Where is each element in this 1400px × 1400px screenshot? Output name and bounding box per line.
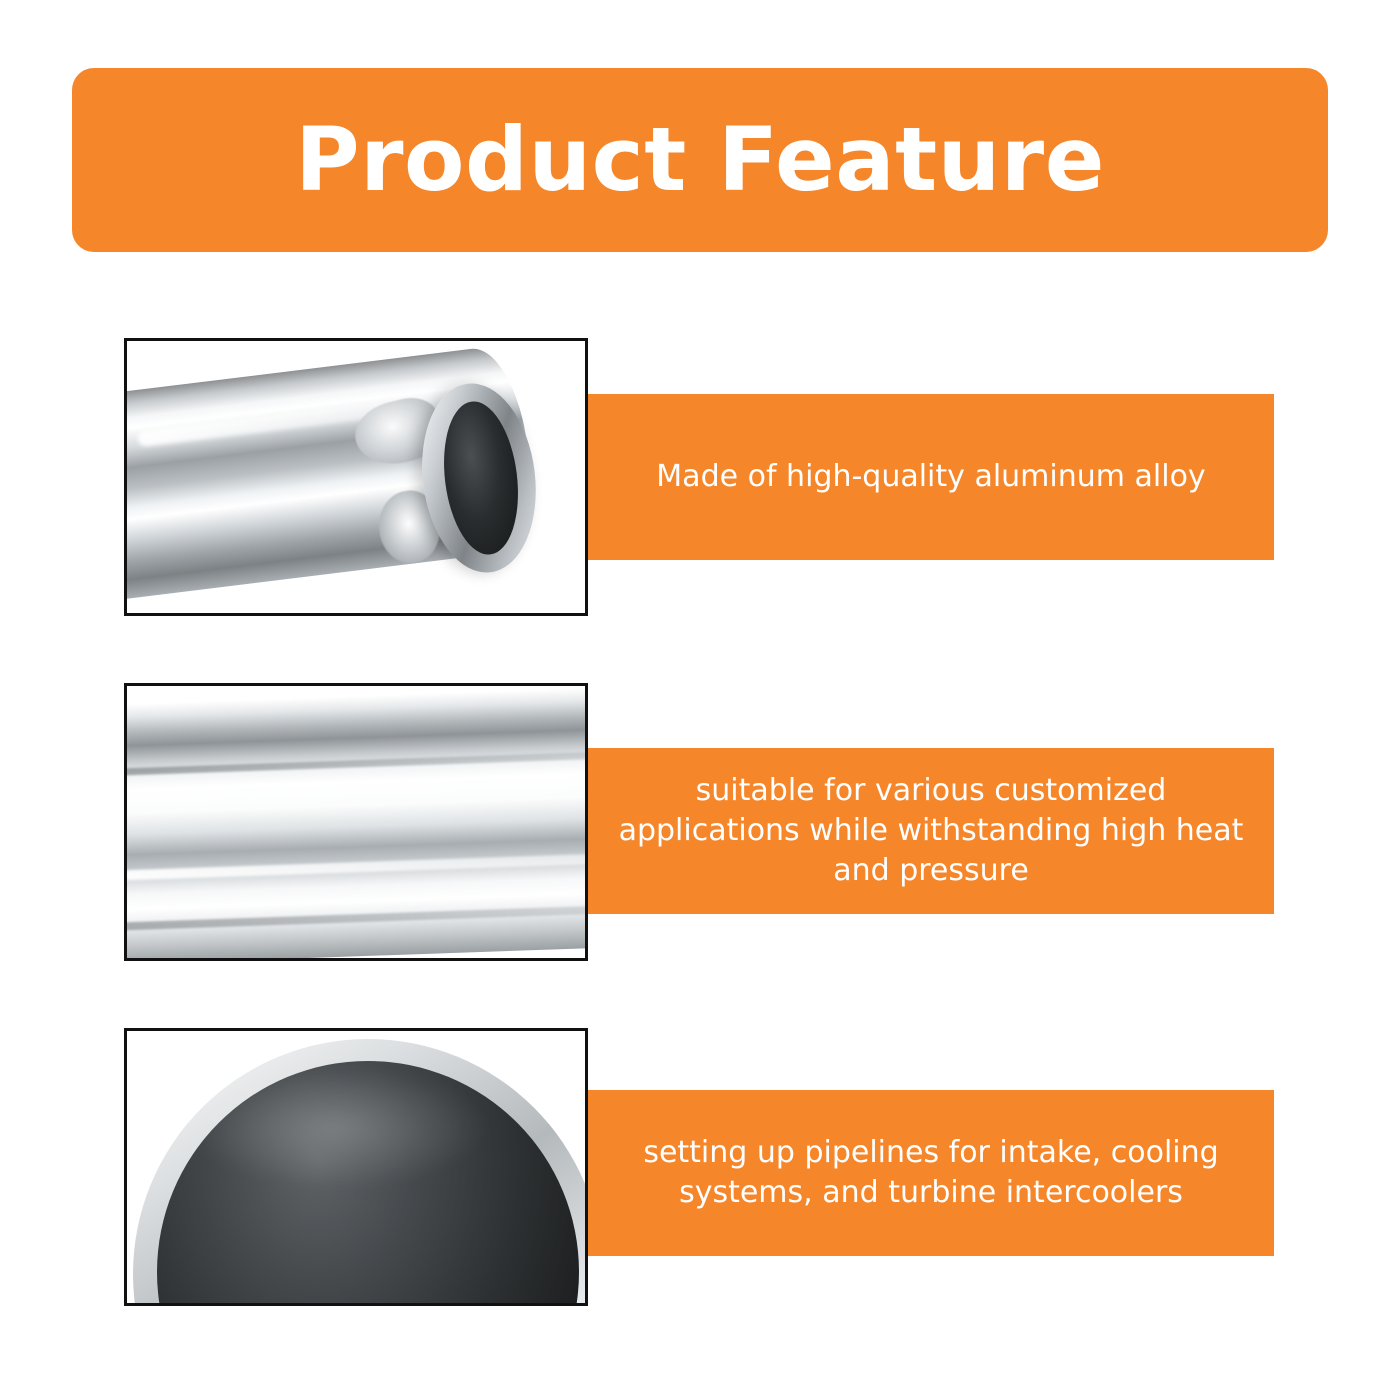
feature-caption-text-3: setting up pipelines for intake, cooling… xyxy=(614,1133,1248,1213)
feature-caption-text-1: Made of high-quality aluminum alloy xyxy=(656,457,1205,497)
pipe-open-end-image xyxy=(127,341,585,613)
pipe-straight-image xyxy=(127,686,585,958)
feature-caption-text-2: suitable for various customized applicat… xyxy=(614,771,1248,891)
product-photo-frame-2 xyxy=(124,683,588,961)
feature-caption-band-3: setting up pipelines for intake, cooling… xyxy=(588,1090,1274,1256)
page-header-banner: Product Feature xyxy=(72,68,1328,252)
page-title: Product Feature xyxy=(295,116,1105,204)
feature-caption-band-2: suitable for various customized applicat… xyxy=(588,748,1274,914)
product-photo-frame-1 xyxy=(124,338,588,616)
pipe-bore-closeup-image xyxy=(127,1031,585,1303)
feature-caption-band-1: Made of high-quality aluminum alloy xyxy=(588,394,1274,560)
pipe-bore-sheen xyxy=(187,1067,487,1187)
product-photo-frame-3 xyxy=(124,1028,588,1306)
